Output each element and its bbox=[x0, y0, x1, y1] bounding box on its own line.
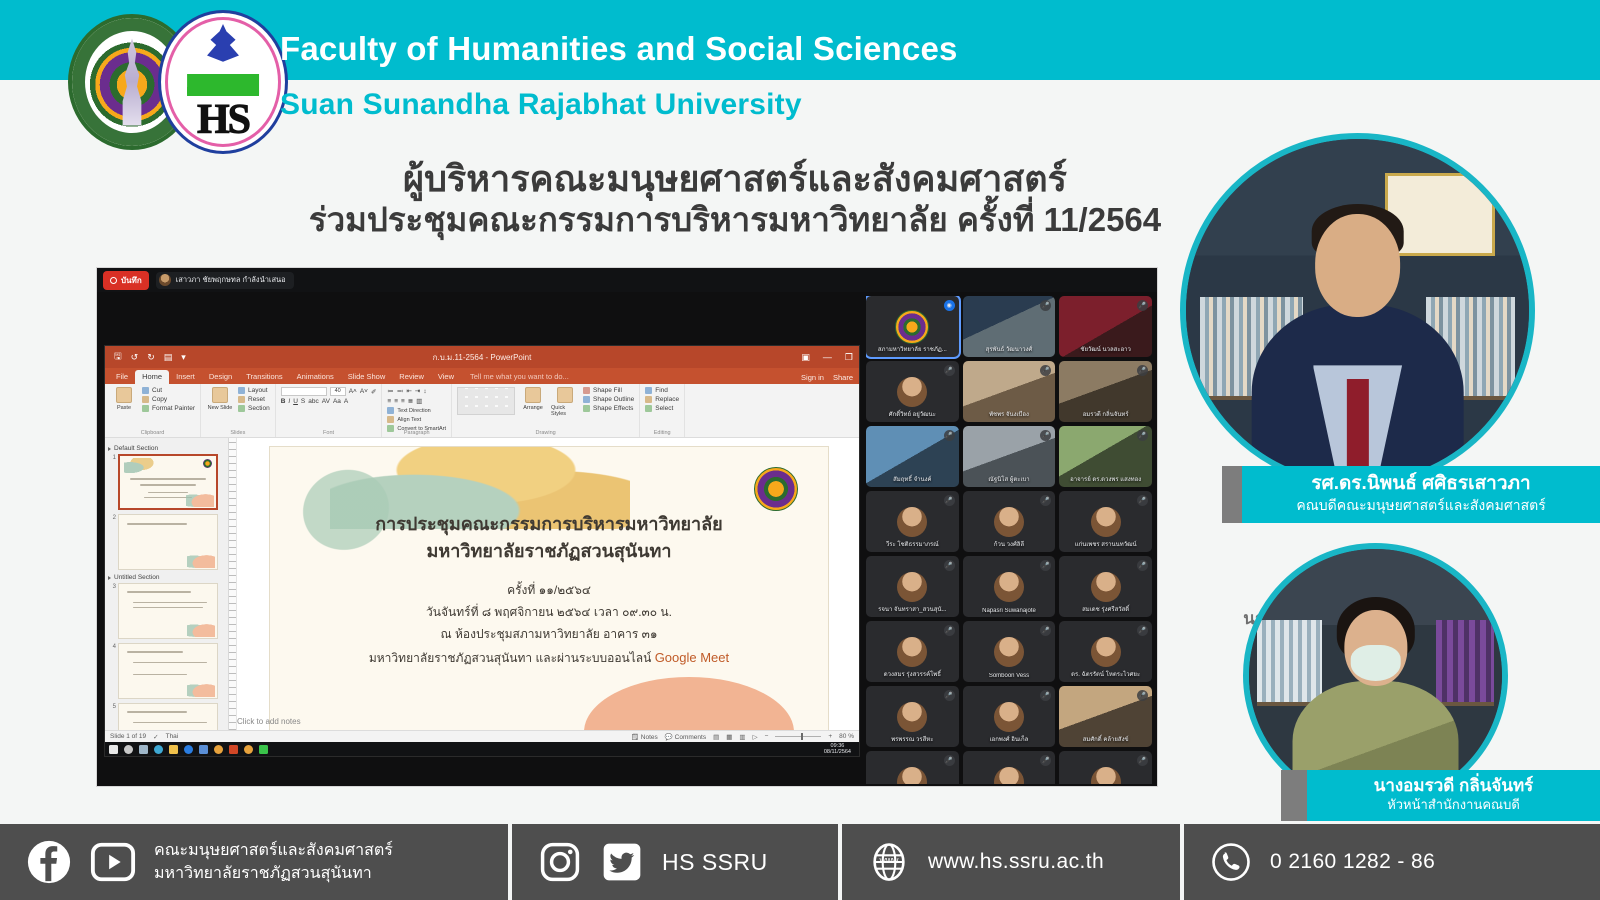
cut-icon bbox=[142, 387, 149, 394]
participant-name: รจนา จันทราสา_สวนสุนั... bbox=[870, 604, 955, 614]
group-label-font: Font bbox=[276, 430, 382, 436]
shadow-button[interactable]: S bbox=[301, 398, 305, 405]
leaf-decor-icon bbox=[187, 621, 215, 637]
ribbon-group-slides: New Slide Layout Reset Section Slides bbox=[201, 384, 276, 437]
font-color-icon[interactable]: A bbox=[344, 398, 348, 405]
ribbon-group-font: 40 A˄ A˅ ✐ B I U S abc AV Aa A Font bbox=[276, 384, 383, 437]
ribbon-group-drawing: Arrange Quick Styles Shape Fill Shape Ou… bbox=[452, 384, 640, 437]
find-icon bbox=[645, 387, 652, 394]
binder-decor bbox=[1436, 620, 1494, 706]
file-explorer-icon[interactable] bbox=[169, 745, 178, 754]
slide-sub-2: วันจันทร์ที่ ๘ พฤศจิกายน ๒๕๖๔ เวลา ๐๙.๓๐… bbox=[270, 601, 828, 623]
mic-muted-icon: 🎤 bbox=[1040, 755, 1051, 766]
ppt-workspace: Default Section 1 2 bbox=[105, 438, 859, 730]
find-button[interactable]: Find bbox=[645, 387, 679, 394]
paste-button[interactable]: Paste bbox=[110, 387, 138, 414]
comments-toggle[interactable]: 💬 Comments bbox=[665, 733, 706, 741]
meet-top-bar: บันทึก เสาวภา ชัยพฤกษทล กำลังนำเสนอ bbox=[97, 268, 1157, 292]
font-size-input[interactable]: 40 bbox=[330, 387, 346, 396]
footer-social-line1: คณะมนุษยศาสตร์และสังคมศาสตร์ bbox=[154, 839, 393, 862]
clear-formatting-icon[interactable]: ✐ bbox=[371, 388, 376, 396]
shape-effects-button[interactable]: Shape Effects bbox=[583, 405, 634, 412]
slide-number: 3 bbox=[108, 583, 116, 590]
participant-name: วีระ โชติธรรมาภรณ์ bbox=[870, 539, 955, 549]
nameplate-body: นางอมรวดี กลิ่นจันทร์ หัวหน้าสำนักงานคณบ… bbox=[1307, 770, 1600, 821]
slide-heading-2: มหาวิทยาลัยราชภัฏสวนสุนันทา bbox=[270, 538, 828, 565]
shape-outline-icon bbox=[583, 396, 590, 403]
ribbon-group-paragraph: ≔ ≕ ⇤ ⇥ ↕ ≡ ≡ ≡ ≣ ▥ Text Direction Align… bbox=[382, 384, 452, 437]
participant-tile[interactable]: 🎤อาจารย์ ดร.ดวงพร แสงทอง bbox=[1059, 426, 1152, 487]
thumb-text-line bbox=[133, 662, 207, 663]
numbering-icon[interactable]: ≕ bbox=[397, 387, 404, 395]
underline-button[interactable]: U bbox=[293, 398, 298, 405]
participant-name: สัมฤทธิ์ จำนงค์ bbox=[870, 474, 955, 484]
slide-thumbnail-pane[interactable]: Default Section 1 2 bbox=[105, 438, 229, 730]
ribbon-display-icon[interactable]: ▣ bbox=[801, 352, 810, 363]
section-button[interactable]: Section bbox=[238, 405, 270, 412]
reset-button[interactable]: Reset bbox=[238, 396, 270, 403]
vertical-ruler bbox=[229, 438, 237, 730]
participant-name: Somboon Vess bbox=[967, 673, 1052, 679]
participant-name: ชัยวัฒน์ นวลสะอาว bbox=[1063, 344, 1148, 354]
line-spacing-icon[interactable]: ↕ bbox=[423, 388, 426, 395]
participant-name: ดร. ฉัตรรัตน์ โหตระไวศยะ bbox=[1063, 669, 1148, 679]
participant-avatar bbox=[994, 702, 1024, 732]
office-head-name: นางอมรวดี กลิ่นจันทร์ bbox=[1374, 776, 1534, 795]
change-case-icon[interactable]: Aa bbox=[333, 398, 341, 405]
mic-muted-icon: 🎤 bbox=[1040, 690, 1051, 701]
tab-review[interactable]: Review bbox=[392, 370, 431, 384]
participant-tile[interactable]: 🎤เอกพงศ์ อินเก็ล bbox=[963, 686, 1056, 747]
participant-tile[interactable]: 🎤แก่นเพชร สรานนทวัฒน์ bbox=[1059, 491, 1152, 552]
tab-home[interactable]: Home bbox=[135, 370, 169, 384]
participant-name: Napasri Suwanajote bbox=[967, 608, 1052, 614]
slide-canvas[interactable]: การประชุมคณะกรรมการบริหารมหาวิทยาลัย มหา… bbox=[269, 446, 829, 730]
participant-tile[interactable]: ◉สภามหาวิทยาลัย ราชภัฏ... bbox=[866, 296, 959, 357]
view-reading-icon[interactable]: ▥ bbox=[739, 733, 745, 741]
participant-seal-icon bbox=[895, 310, 929, 344]
slide-thumbnail[interactable] bbox=[118, 703, 218, 730]
title-line-1: ผู้บริหารคณะมนุษยศาสตร์และสังคมศาสตร์ bbox=[300, 158, 1170, 199]
participant-tile[interactable]: 🎤อมรวดี กลิ่นจันทร์ bbox=[1059, 361, 1152, 422]
search-icon[interactable] bbox=[124, 745, 133, 754]
copy-icon bbox=[142, 396, 149, 403]
notes-toggle[interactable]: 🗒 Notes bbox=[631, 733, 658, 741]
participant-tile[interactable]: 🎤ศักดิ์วิทย์ อยู่วัฒนะ bbox=[866, 361, 959, 422]
tab-design[interactable]: Design bbox=[202, 370, 239, 384]
participant-name: สมเดช รุ่งศรีสวัสดิ์ bbox=[1063, 604, 1148, 614]
slide-counter: Slide 1 of 19 bbox=[110, 733, 146, 740]
slide-thumbnail[interactable] bbox=[118, 454, 218, 510]
participant-tile[interactable]: 🎤วีระ โชติธรรมาภรณ์ bbox=[866, 491, 959, 552]
record-dot-icon bbox=[110, 277, 117, 284]
ppt-title-bar: 🖫 ↺ ↻ ▤ ▾ ก.บ.ม.11-2564 - PowerPoint ▣ —… bbox=[105, 346, 859, 368]
spellcheck-icon[interactable]: ✓ bbox=[153, 733, 158, 741]
footer-handle: HS SSRU bbox=[662, 849, 768, 876]
decrease-indent-icon[interactable]: ⇤ bbox=[406, 387, 411, 395]
align-row[interactable]: ≡ ≡ ≡ ≣ ▥ bbox=[387, 397, 446, 405]
shape-fill-icon bbox=[583, 387, 590, 394]
mic-muted-icon: 🎤 bbox=[1040, 300, 1051, 311]
format-painter-icon bbox=[142, 405, 149, 412]
thumb-text-line bbox=[127, 523, 187, 525]
dean-name: รศ.ดร.นิพนธ์ ศศิธรเสาวภา bbox=[1311, 473, 1530, 494]
youtube-icon[interactable] bbox=[90, 839, 136, 885]
participant-avatar bbox=[897, 767, 927, 785]
tab-file[interactable]: File bbox=[109, 370, 135, 384]
footer-social-text: คณะมนุษยศาสตร์และสังคมศาสตร์ มหาวิทยาลัย… bbox=[154, 839, 393, 885]
slide-sub-4-text: มหาวิทยาลัยราชภัฏสวนสุนันทา และผ่านระบบอ… bbox=[369, 651, 651, 665]
ribbon[interactable]: Paste Cut Copy Format Painter Clipboard … bbox=[105, 384, 859, 438]
start-icon[interactable] bbox=[109, 745, 118, 754]
arrange-icon bbox=[525, 387, 541, 403]
participant-name: ณัฐนิโส ผู้ตะเบา bbox=[967, 474, 1052, 484]
leaf-decor-icon bbox=[187, 552, 215, 568]
mic-muted-icon: 🎤 bbox=[1137, 755, 1148, 766]
replace-icon bbox=[645, 396, 652, 403]
mic-muted-icon: 🎤 bbox=[1040, 365, 1051, 376]
list-row[interactable]: ≔ ≕ ⇤ ⇥ ↕ bbox=[387, 387, 446, 395]
mic-muted-icon: 🎤 bbox=[1137, 495, 1148, 506]
share-button[interactable]: Share bbox=[833, 373, 853, 382]
zoom-slider[interactable] bbox=[775, 736, 821, 737]
align-left-icon[interactable]: ≡ bbox=[387, 398, 391, 405]
participant-tile[interactable]: 🎤ชัยวัฒน์ นวลสะอาว bbox=[1059, 296, 1152, 357]
participant-avatar bbox=[897, 572, 927, 602]
twitter-icon[interactable] bbox=[600, 840, 644, 884]
mic-muted-icon: 🎤 bbox=[944, 430, 955, 441]
section-header-default[interactable]: Default Section bbox=[108, 445, 225, 452]
group-label-slides: Slides bbox=[201, 430, 275, 436]
participant-avatar bbox=[897, 507, 927, 537]
increase-indent-icon[interactable]: ⇥ bbox=[415, 387, 420, 395]
instagram-icon[interactable] bbox=[538, 840, 582, 884]
arrange-button[interactable]: Arrange bbox=[519, 387, 547, 411]
svg-text:www: www bbox=[879, 855, 900, 865]
reset-icon bbox=[238, 396, 245, 403]
bold-button[interactable]: B bbox=[281, 398, 286, 405]
footer-handle-segment: HS SSRU bbox=[512, 824, 842, 900]
participant-name: แก่นเพชร สรานนทวัฒน์ bbox=[1063, 539, 1148, 549]
ppt-document-title: ก.บ.ม.11-2564 - PowerPoint bbox=[105, 351, 859, 364]
slide-heading-1: การประชุมคณะกรรมการบริหารมหาวิทยาลัย bbox=[270, 511, 828, 538]
participant-name: ก้วน วงศ์ลิลี bbox=[967, 539, 1052, 549]
font-name-input[interactable] bbox=[281, 387, 327, 396]
slide-subtext: ครั้งที่ ๑๑/๒๕๖๔ วันจันทร์ที่ ๘ พฤศจิกาย… bbox=[270, 579, 828, 670]
thumb-text-line bbox=[144, 497, 192, 498]
thumb-text-line bbox=[140, 484, 196, 486]
section-label: Untitled Section bbox=[114, 574, 160, 581]
participant-grid[interactable]: ◉สภามหาวิทยาลัย ราชภัฏ...🎤สุรพันธ์ วัฒนา… bbox=[866, 296, 1152, 784]
mic-muted-icon: 🎤 bbox=[944, 560, 955, 571]
participant-name: สมศักดิ์ คล้ายสังข์ bbox=[1063, 734, 1148, 744]
format-painter-button[interactable]: Format Painter bbox=[142, 405, 195, 412]
participant-name: สภามหาวิทยาลัย ราชภัฏ... bbox=[870, 344, 955, 354]
footer-social-line2: มหาวิทยาลัยราชภัฏสวนสุนันทา bbox=[154, 862, 393, 885]
thumb-text-line bbox=[133, 722, 207, 723]
recording-indicator[interactable]: บันทึก bbox=[103, 271, 149, 290]
tab-animations[interactable]: Animations bbox=[290, 370, 341, 384]
mic-muted-icon: 🎤 bbox=[1137, 365, 1148, 376]
mic-muted-icon: 🎤 bbox=[1040, 430, 1051, 441]
group-label-paragraph: Paragraph bbox=[382, 430, 451, 436]
bullets-icon[interactable]: ≔ bbox=[387, 387, 394, 395]
record-label: บันทึก bbox=[121, 274, 142, 287]
participant-avatar bbox=[994, 637, 1024, 667]
group-label-drawing: Drawing bbox=[452, 430, 639, 436]
shape-effects-icon bbox=[583, 405, 590, 412]
columns-icon[interactable]: ▥ bbox=[416, 397, 422, 405]
portrait-dean-photo bbox=[1186, 139, 1529, 482]
strikethrough-button[interactable]: abc bbox=[308, 398, 318, 405]
justify-icon[interactable]: ≣ bbox=[408, 397, 413, 405]
footer-phone-segment: 0 2160 1282 - 86 bbox=[1184, 824, 1600, 900]
tab-transitions[interactable]: Transitions bbox=[239, 370, 289, 384]
thumbnail-item[interactable]: 4 bbox=[108, 643, 225, 699]
dean-role: คณบดีคณะมนุษยศาสตร์และสังคมศาสตร์ bbox=[1296, 497, 1545, 513]
nameplate-body: รศ.ดร.นิพนธ์ ศศิธรเสาวภา คณบดีคณะมนุษยศา… bbox=[1242, 466, 1600, 523]
task-view-icon[interactable] bbox=[139, 745, 148, 754]
quick-styles-button[interactable]: Quick Styles bbox=[551, 387, 579, 417]
participant-avatar bbox=[994, 767, 1024, 785]
mic-muted-icon: 🎤 bbox=[1040, 625, 1051, 636]
slide-editing-area[interactable]: การประชุมคณะกรรมการบริหารมหาวิทยาลัย มหา… bbox=[229, 438, 859, 730]
thumb-text-line bbox=[133, 607, 203, 608]
thumbnail-item[interactable]: 5 bbox=[108, 703, 225, 730]
seal-decor-icon bbox=[203, 459, 212, 468]
participant-tile[interactable]: 🎤ดวงสมร รุ่งสวรรค์โพธิ์ bbox=[866, 621, 959, 682]
thumbnail-item[interactable]: 1 bbox=[108, 454, 225, 510]
slide-thumbnail[interactable] bbox=[118, 643, 218, 699]
mic-muted-icon: 🎤 bbox=[1137, 560, 1148, 571]
font-row[interactable]: 40 A˄ A˅ ✐ bbox=[281, 387, 377, 396]
ribbon-group-editing: Find Replace Select Editing bbox=[640, 384, 685, 437]
font-style-row[interactable]: B I U S abc AV Aa A bbox=[281, 398, 377, 405]
paste-icon bbox=[116, 387, 132, 403]
footer-phone[interactable]: 0 2160 1282 - 86 bbox=[1270, 850, 1435, 874]
participant-tile[interactable]: 🎤Somboon Vess bbox=[963, 621, 1056, 682]
participant-tile[interactable]: 🎤สมเดช รุ่งศรีสวัสดิ์ bbox=[1059, 556, 1152, 617]
new-slide-button[interactable]: New Slide bbox=[206, 387, 234, 414]
mic-muted-icon: 🎤 bbox=[944, 495, 955, 506]
phone-icon[interactable] bbox=[1210, 841, 1252, 883]
restore-icon[interactable]: ❐ bbox=[845, 352, 853, 363]
thumb-text-line bbox=[133, 602, 207, 603]
thumb-text-line bbox=[127, 711, 187, 713]
shapes-gallery[interactable] bbox=[457, 387, 515, 415]
tab-slide-show[interactable]: Slide Show bbox=[341, 370, 393, 384]
participant-name: อมรวดี กลิ่นจันทร์ bbox=[1063, 409, 1148, 419]
presenter-label: เสาวภา ชัยพฤกษทล กำลังนำเสนอ bbox=[176, 274, 286, 286]
participant-name: เอกพงศ์ อินเก็ล bbox=[967, 734, 1052, 744]
leaf-decor-icon bbox=[187, 681, 215, 697]
copy-button[interactable]: Copy bbox=[142, 396, 195, 403]
participant-avatar bbox=[1091, 507, 1121, 537]
mic-muted-icon: 🎤 bbox=[1040, 560, 1051, 571]
presenter-avatar bbox=[159, 274, 171, 286]
participant-name: ศักดิ์วิทย์ อยู่วัฒนะ bbox=[870, 409, 955, 419]
mic-muted-icon: 🎤 bbox=[944, 625, 955, 636]
shrink-font-icon[interactable]: A˅ bbox=[360, 388, 368, 395]
hs-faculty-logo: HS bbox=[158, 10, 288, 154]
mic-muted-icon: 🎤 bbox=[1137, 690, 1148, 701]
footer-website-segment: www www.hs.ssru.ac.th bbox=[842, 824, 1184, 900]
participant-tile[interactable]: 🎤ดร. ฉัตรรัตน์ โหตระไวศยะ bbox=[1059, 621, 1152, 682]
align-text-icon bbox=[387, 416, 394, 423]
participant-tile[interactable]: 🎤ณัฐนิโส ผู้ตะเบา bbox=[963, 426, 1056, 487]
leaf-decor-icon bbox=[124, 458, 154, 474]
thumbnail-item[interactable]: 3 bbox=[108, 583, 225, 639]
footer-website[interactable]: www.hs.ssru.ac.th bbox=[928, 850, 1104, 874]
nameplate-dean: รศ.ดร.นิพนธ์ ศศิธรเสาวภา คณบดีคณะมนุษยศา… bbox=[1222, 466, 1600, 523]
portrait-office-head-photo bbox=[1249, 549, 1502, 802]
participant-avatar bbox=[897, 377, 927, 407]
taskbar-clock[interactable]: 09:36 08/11/2564 bbox=[824, 743, 855, 756]
facebook-icon[interactable] bbox=[26, 839, 72, 885]
view-sorter-icon[interactable]: ▦ bbox=[726, 733, 732, 741]
window-controls[interactable]: ▣ — ❐ bbox=[801, 352, 853, 363]
tab-insert[interactable]: Insert bbox=[169, 370, 202, 384]
app-icon[interactable] bbox=[199, 745, 208, 754]
mic-muted-icon: 🎤 bbox=[944, 365, 955, 376]
participant-tile[interactable]: 🎤พัชพร จันงเบือง bbox=[963, 361, 1056, 422]
participant-tile[interactable]: 🎤 bbox=[866, 751, 959, 784]
university-seal-icon bbox=[754, 467, 798, 511]
participant-avatar bbox=[1091, 637, 1121, 667]
signin-area[interactable]: Sign in Share bbox=[801, 373, 853, 382]
faculty-name: Faculty of Humanities and Social Science… bbox=[280, 30, 958, 68]
thumb-text-line bbox=[130, 478, 206, 480]
slide-thumbnail[interactable] bbox=[118, 583, 218, 639]
participant-name: สุรพันธ์ วัฒนาวงศ์ bbox=[967, 344, 1052, 354]
zoom-in-button[interactable]: + bbox=[828, 733, 832, 740]
spire-icon bbox=[194, 24, 251, 76]
section-header-untitled[interactable]: Untitled Section bbox=[108, 574, 225, 581]
participant-tile[interactable]: 🎤พรพรรณ วรสีหะ bbox=[866, 686, 959, 747]
browser-icon[interactable] bbox=[184, 745, 193, 754]
text-direction-button[interactable]: Text Direction bbox=[387, 407, 446, 414]
select-button[interactable]: Select bbox=[645, 405, 679, 412]
zoom-slider-knob[interactable] bbox=[801, 733, 803, 740]
hs-monogram: HS bbox=[197, 96, 249, 144]
select-icon bbox=[645, 405, 652, 412]
chrome-2-icon[interactable] bbox=[244, 745, 253, 754]
align-center-icon[interactable]: ≡ bbox=[394, 398, 398, 405]
footer: คณะมนุษยศาสตร์และสังคมศาสตร์ มหาวิทยาลัย… bbox=[0, 824, 1600, 900]
footer-social-segment: คณะมนุษยศาสตร์และสังคมศาสตร์ มหาวิทยาลัย… bbox=[0, 824, 512, 900]
participant-tile[interactable]: 🎤รจนา จันทราสา_สวนสุนั... bbox=[866, 556, 959, 617]
leaf-decor-icon bbox=[186, 491, 214, 507]
participant-name: พรพรรณ วรสีหะ bbox=[870, 734, 955, 744]
powerpoint-window[interactable]: 🖫 ↺ ↻ ▤ ▾ ก.บ.ม.11-2564 - PowerPoint ▣ —… bbox=[104, 345, 860, 757]
person-head bbox=[1315, 214, 1401, 317]
participant-avatar bbox=[1091, 572, 1121, 602]
mic-muted-icon: 🎤 bbox=[944, 690, 955, 701]
notes-placeholder[interactable]: Click to add notes bbox=[237, 717, 855, 726]
align-right-icon[interactable]: ≡ bbox=[401, 398, 405, 405]
replace-button[interactable]: Replace bbox=[645, 396, 679, 403]
participant-tile[interactable]: 🎤 bbox=[1059, 751, 1152, 784]
layout-icon bbox=[238, 387, 245, 394]
mic-muted-icon: 🎤 bbox=[944, 755, 955, 766]
new-slide-icon bbox=[212, 387, 228, 403]
slide-number: 5 bbox=[108, 703, 116, 710]
italic-button[interactable]: I bbox=[288, 398, 290, 405]
nameplate-accent bbox=[1222, 466, 1242, 523]
slide-thumbnail[interactable] bbox=[118, 514, 218, 570]
minimize-icon[interactable]: — bbox=[823, 352, 832, 363]
slide-sub-3: ณ ห้องประชุมสภามหาวิทยาลัย อาคาร ๓๑ bbox=[270, 623, 828, 645]
cut-button[interactable]: Cut bbox=[142, 387, 195, 394]
align-text-button[interactable]: Align Text bbox=[387, 416, 446, 423]
layout-button[interactable]: Layout bbox=[238, 387, 270, 394]
line-icon[interactable] bbox=[259, 745, 268, 754]
thumb-text-line bbox=[148, 492, 188, 493]
participant-name: พัชพร จันงเบือง bbox=[967, 409, 1052, 419]
university-name: Suan Sunandha Rajabhat University bbox=[280, 88, 802, 122]
participant-tile[interactable]: 🎤Napasri Suwanajote bbox=[963, 556, 1056, 617]
google-meet-label: Google Meet bbox=[655, 650, 729, 665]
participant-tile[interactable]: 🎤สุรพันธ์ วัฒนาวงศ์ bbox=[963, 296, 1056, 357]
participant-avatar bbox=[897, 702, 927, 732]
chevron-right-icon bbox=[108, 576, 111, 580]
globe-icon[interactable]: www bbox=[868, 841, 910, 883]
group-label-clipboard: Clipboard bbox=[105, 430, 200, 436]
thumb-text-line bbox=[127, 651, 183, 653]
participant-avatar bbox=[994, 572, 1024, 602]
mic-muted-icon: 🎤 bbox=[1040, 495, 1051, 506]
tell-me-search[interactable]: Tell me what you want to do... bbox=[461, 370, 569, 384]
participant-avatar bbox=[994, 507, 1024, 537]
powerpoint-taskbar-icon[interactable] bbox=[229, 745, 238, 754]
sign-in-link[interactable]: Sign in bbox=[801, 373, 824, 382]
thumbnail-item[interactable]: 2 bbox=[108, 514, 225, 570]
edge-icon[interactable] bbox=[154, 745, 163, 754]
grow-font-icon[interactable]: A˄ bbox=[349, 388, 357, 395]
language-indicator[interactable]: Thai bbox=[166, 733, 179, 740]
participant-tile[interactable]: 🎤สมศักดิ์ คล้ายสังข์ bbox=[1059, 686, 1152, 747]
zoom-level[interactable]: 80 % bbox=[839, 733, 854, 740]
ppt-status-bar: Slide 1 of 19 ✓ Thai 🗒 Notes 💬 Comments … bbox=[105, 730, 859, 742]
ribbon-group-clipboard: Paste Cut Copy Format Painter Clipboard bbox=[105, 384, 201, 437]
participant-tile[interactable]: 🎤ก้วน วงศ์ลิลี bbox=[963, 491, 1056, 552]
portrait-office-head bbox=[1243, 543, 1508, 808]
slide-text-block: การประชุมคณะกรรมการบริหารมหาวิทยาลัย มหา… bbox=[270, 511, 828, 670]
chrome-icon[interactable] bbox=[214, 745, 223, 754]
thumb-text-line bbox=[127, 591, 191, 593]
status-right-group: 🗒 Notes 💬 Comments ▤ ▦ ▥ ▷ − + 80 % bbox=[631, 733, 854, 741]
participant-tile[interactable]: 🎤สัมฤทธิ์ จำนงค์ bbox=[866, 426, 959, 487]
tab-view[interactable]: View bbox=[431, 370, 461, 384]
ribbon-tabs[interactable]: File Home Insert Design Transitions Anim… bbox=[105, 368, 859, 384]
thumb-text-line bbox=[133, 674, 187, 675]
view-normal-icon[interactable]: ▤ bbox=[713, 733, 719, 741]
char-spacing-icon[interactable]: AV bbox=[322, 398, 330, 405]
face-mask bbox=[1350, 645, 1401, 680]
page-title: ผู้บริหารคณะมนุษยศาสตร์และสังคมศาสตร์ ร่… bbox=[300, 158, 1170, 241]
participant-name: อาจารย์ ดร.ดวงพร แสงทอง bbox=[1063, 474, 1148, 484]
windows-taskbar[interactable]: 09:36 08/11/2564 bbox=[105, 742, 859, 756]
participant-tile[interactable]: 🎤 bbox=[963, 751, 1056, 784]
mic-muted-icon: 🎤 bbox=[1137, 430, 1148, 441]
zoom-out-button[interactable]: − bbox=[765, 733, 769, 740]
shape-fill-button[interactable]: Shape Fill bbox=[583, 387, 634, 394]
shape-outline-button[interactable]: Shape Outline bbox=[583, 396, 634, 403]
view-slideshow-icon[interactable]: ▷ bbox=[753, 733, 758, 741]
slide-sub-4: มหาวิทยาลัยราชภัฏสวนสุนันทา และผ่านระบบอ… bbox=[270, 646, 828, 670]
group-label-editing: Editing bbox=[640, 430, 684, 436]
header: HS Faculty of Humanities and Social Scie… bbox=[0, 0, 1600, 150]
